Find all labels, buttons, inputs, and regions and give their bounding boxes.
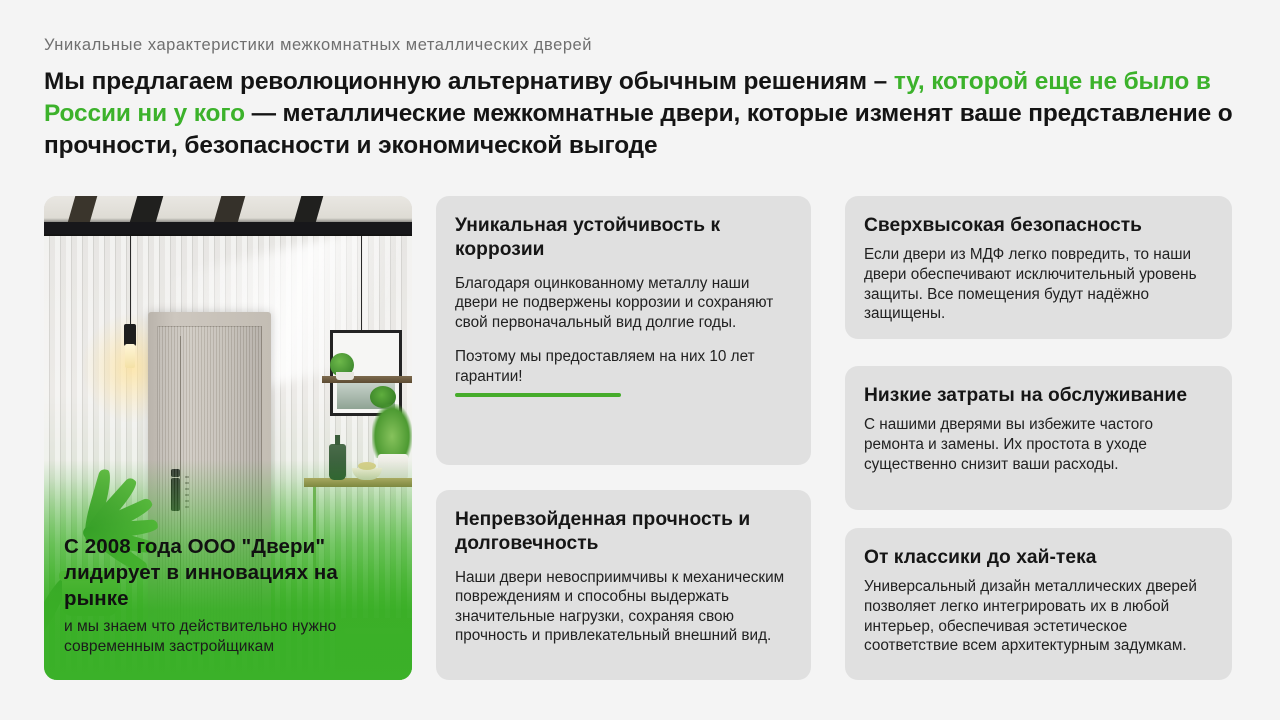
feature-card-title: Непревзойденная прочность и долговечност…: [455, 508, 791, 557]
feature-card-body: С нашими дверями вы избежите частого рем…: [864, 415, 1212, 474]
eyebrow-text: Уникальные характеристики межкомнатных м…: [44, 36, 592, 55]
tall-plant-bush: [372, 404, 412, 458]
feature-card-maintenance-cost[interactable]: Низкие затраты на обслуживание С нашими …: [845, 366, 1232, 510]
ceiling-strip: [44, 222, 412, 234]
feature-card-title: От классики до хай-тека: [864, 546, 1212, 570]
ceiling: [44, 196, 412, 236]
pendant-cord-left: [130, 234, 131, 326]
page-title: Мы предлагаем революционную альтернативу…: [44, 66, 1239, 163]
photo-caption-title: С 2008 года ООО "Двери" лидирует в иннов…: [64, 534, 396, 613]
photo-card[interactable]: С 2008 года ООО "Двери" лидирует в иннов…: [44, 196, 412, 680]
feature-card-body: Если двери из МДФ легко повредить, то на…: [864, 245, 1212, 323]
feature-card-body: Наши двери невосприимчивы к механическим…: [455, 568, 791, 646]
feature-card-title: Уникальная устойчивость к коррозии: [455, 214, 791, 263]
feature-card-body: Благодаря оцинкованному металлу наши две…: [455, 274, 791, 387]
feature-card-paragraph-1: Благодаря оцинкованному металлу наши две…: [455, 275, 773, 331]
headline-segment-1: Мы предлагаем революционную альтернативу…: [44, 68, 894, 95]
shelf-pot: [336, 372, 354, 380]
feature-card-body: Универсальный дизайн металлических двере…: [864, 577, 1212, 655]
feature-card-corrosion[interactable]: Уникальная устойчивость к коррозии Благо…: [436, 196, 811, 465]
slide-root: Уникальные характеристики межкомнатных м…: [0, 0, 1280, 720]
feature-card-title: Сверхвысокая безопасность: [864, 214, 1212, 238]
pendant-lamp-left: [124, 324, 136, 346]
content-board: С 2008 года ООО "Двери" лидирует в иннов…: [44, 196, 1234, 680]
photo-caption-subtitle: и мы знаем что действительно нужно совре…: [64, 617, 396, 656]
photo-caption: С 2008 года ООО "Двери" лидирует в иннов…: [64, 534, 396, 656]
feature-card-paragraph-2: Поэтому мы предоставляем на них 10 лет г…: [455, 348, 755, 385]
feature-card-design[interactable]: От классики до хай-тека Универсальный ди…: [845, 528, 1232, 680]
feature-card-title: Низкие затраты на обслуживание: [864, 384, 1212, 408]
feature-card-security[interactable]: Сверхвысокая безопасность Если двери из …: [845, 196, 1232, 339]
feature-card-strength[interactable]: Непревзойденная прочность и долговечност…: [436, 490, 811, 680]
green-underline-accent: [455, 393, 621, 397]
paragraph-spacer: [455, 332, 791, 347]
